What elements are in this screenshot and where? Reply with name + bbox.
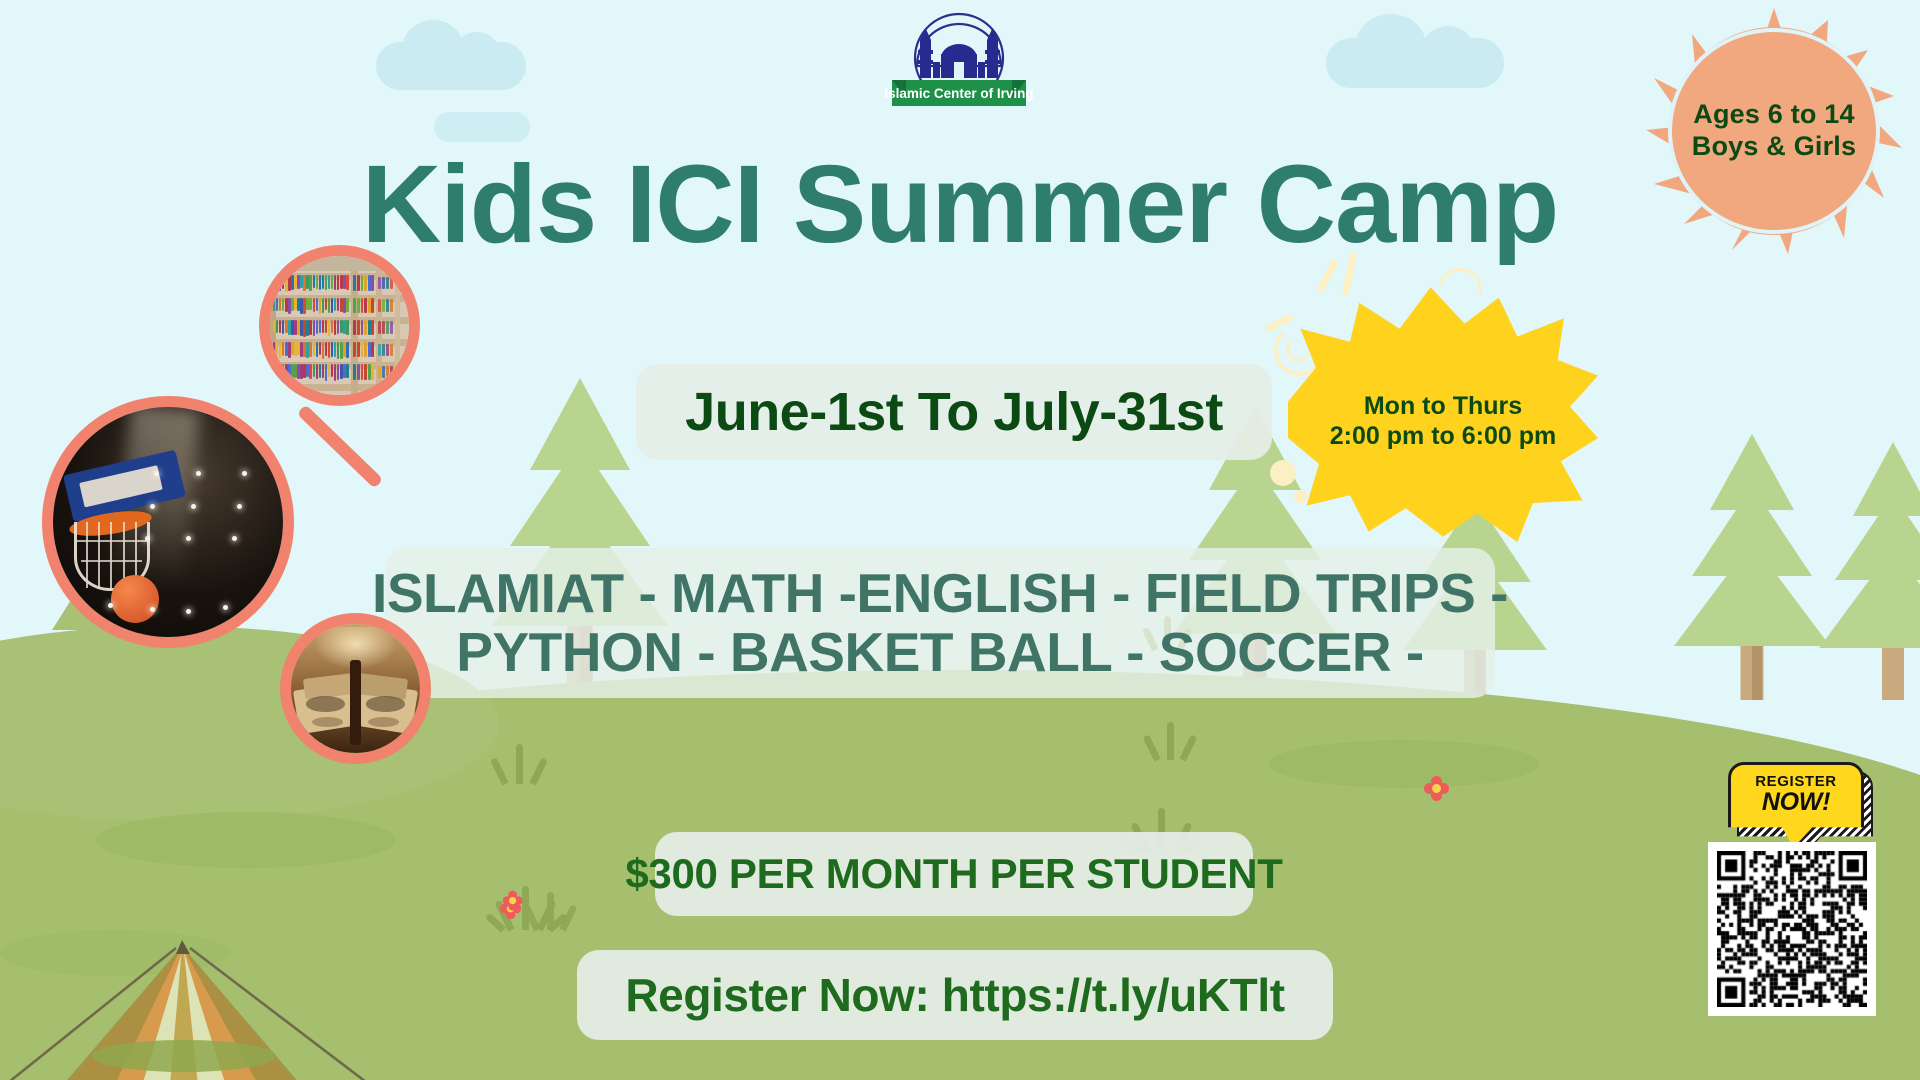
- logo-ribbon-text: Islamic Center of Irving: [884, 86, 1033, 101]
- subjects-line-2: PYTHON - BASKET BALL - SOCCER -: [456, 623, 1423, 682]
- cloud-icon: [1326, 38, 1504, 88]
- register-now-badge[interactable]: REGISTER NOW!: [1728, 762, 1864, 848]
- grass-tuft-icon: [1148, 720, 1194, 760]
- cloud-icon: [376, 42, 526, 90]
- basketball-hoop-photo: [42, 396, 294, 648]
- poster-canvas: Islamic Center of Irving: [0, 0, 1920, 1080]
- price-banner: $300 PER MONTH PER STUDENT: [655, 832, 1253, 916]
- qr-canvas: [1717, 851, 1867, 1007]
- dates-banner: June-1st To July-31st: [636, 364, 1272, 460]
- grass-tuft-icon: [528, 890, 574, 930]
- register-now-line-2: NOW!: [1762, 790, 1830, 815]
- register-now-line-1: REGISTER: [1755, 774, 1836, 789]
- camping-tent-icon: [0, 836, 384, 1080]
- subjects-banner: ISLAMIAT - MATH -ENGLISH - FIELD TRIPS -…: [385, 548, 1495, 698]
- flower-icon: [1424, 776, 1450, 802]
- schedule-text: Mon to Thurs 2:00 pm to 6:00 pm: [1288, 282, 1598, 542]
- open-quran-photo: [280, 613, 431, 764]
- register-link-banner[interactable]: Register Now: https://t.ly/uKTlt: [577, 950, 1333, 1040]
- basketball: [111, 575, 159, 623]
- subjects-line-1: ISLAMIAT - MATH -ENGLISH - FIELD TRIPS -: [372, 564, 1508, 623]
- library-bookshelves-photo: [259, 245, 420, 406]
- schedule-line-1: Mon to Thurs: [1364, 391, 1522, 421]
- flower-icon: [503, 891, 524, 912]
- islamic-center-of-irving-logo: Islamic Center of Irving: [876, 6, 1042, 124]
- schedule-line-2: 2:00 pm to 6:00 pm: [1330, 421, 1556, 451]
- cloud-icon: [434, 112, 530, 142]
- ground-patch: [1268, 740, 1540, 788]
- pine-tree-icon: [1672, 438, 1832, 700]
- age-badge-line-1: Ages 6 to 14: [1693, 99, 1854, 131]
- page-title: Kids ICI Summer Camp: [0, 150, 1920, 260]
- pine-tree-icon: [1818, 448, 1920, 700]
- registration-qr-code[interactable]: [1708, 842, 1876, 1016]
- grass-tuft-icon: [496, 742, 544, 784]
- photo-connector-line: [297, 404, 384, 488]
- schedule-starburst: Mon to Thurs 2:00 pm to 6:00 pm: [1288, 282, 1598, 542]
